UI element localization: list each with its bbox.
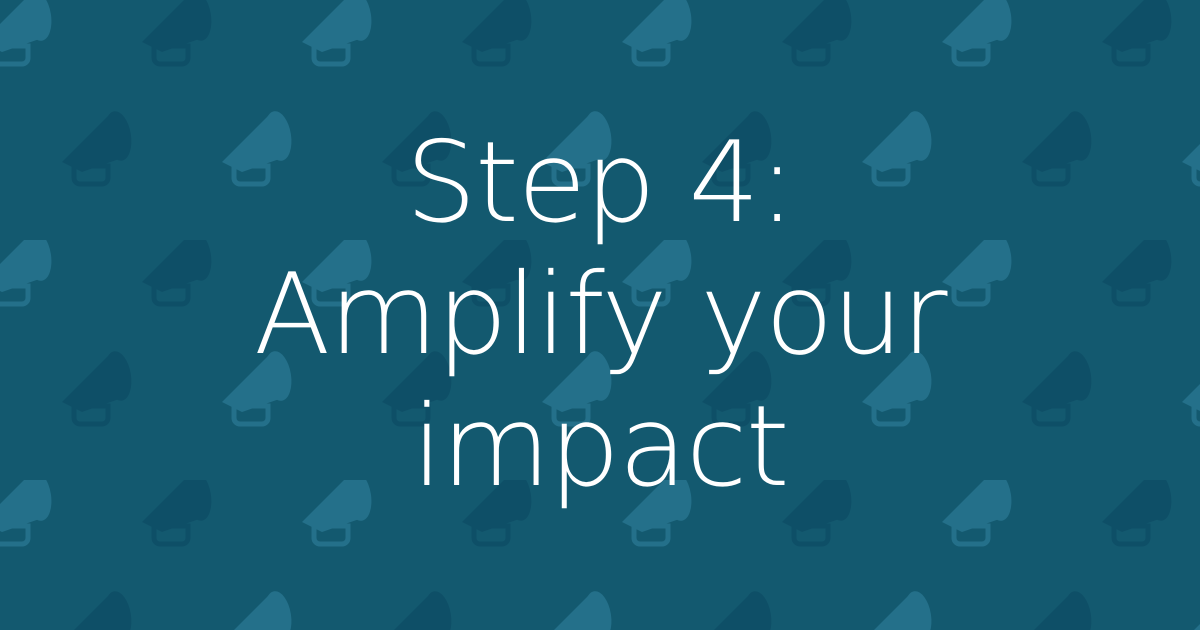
headline-block: Step 4: Amplify your impact	[0, 0, 1200, 630]
promo-banner: Step 4: Amplify your impact	[0, 0, 1200, 630]
headline-line-1: Step 4:	[405, 117, 794, 249]
headline-line-2: Amplify your	[254, 249, 946, 381]
headline-line-3: impact	[412, 381, 788, 513]
